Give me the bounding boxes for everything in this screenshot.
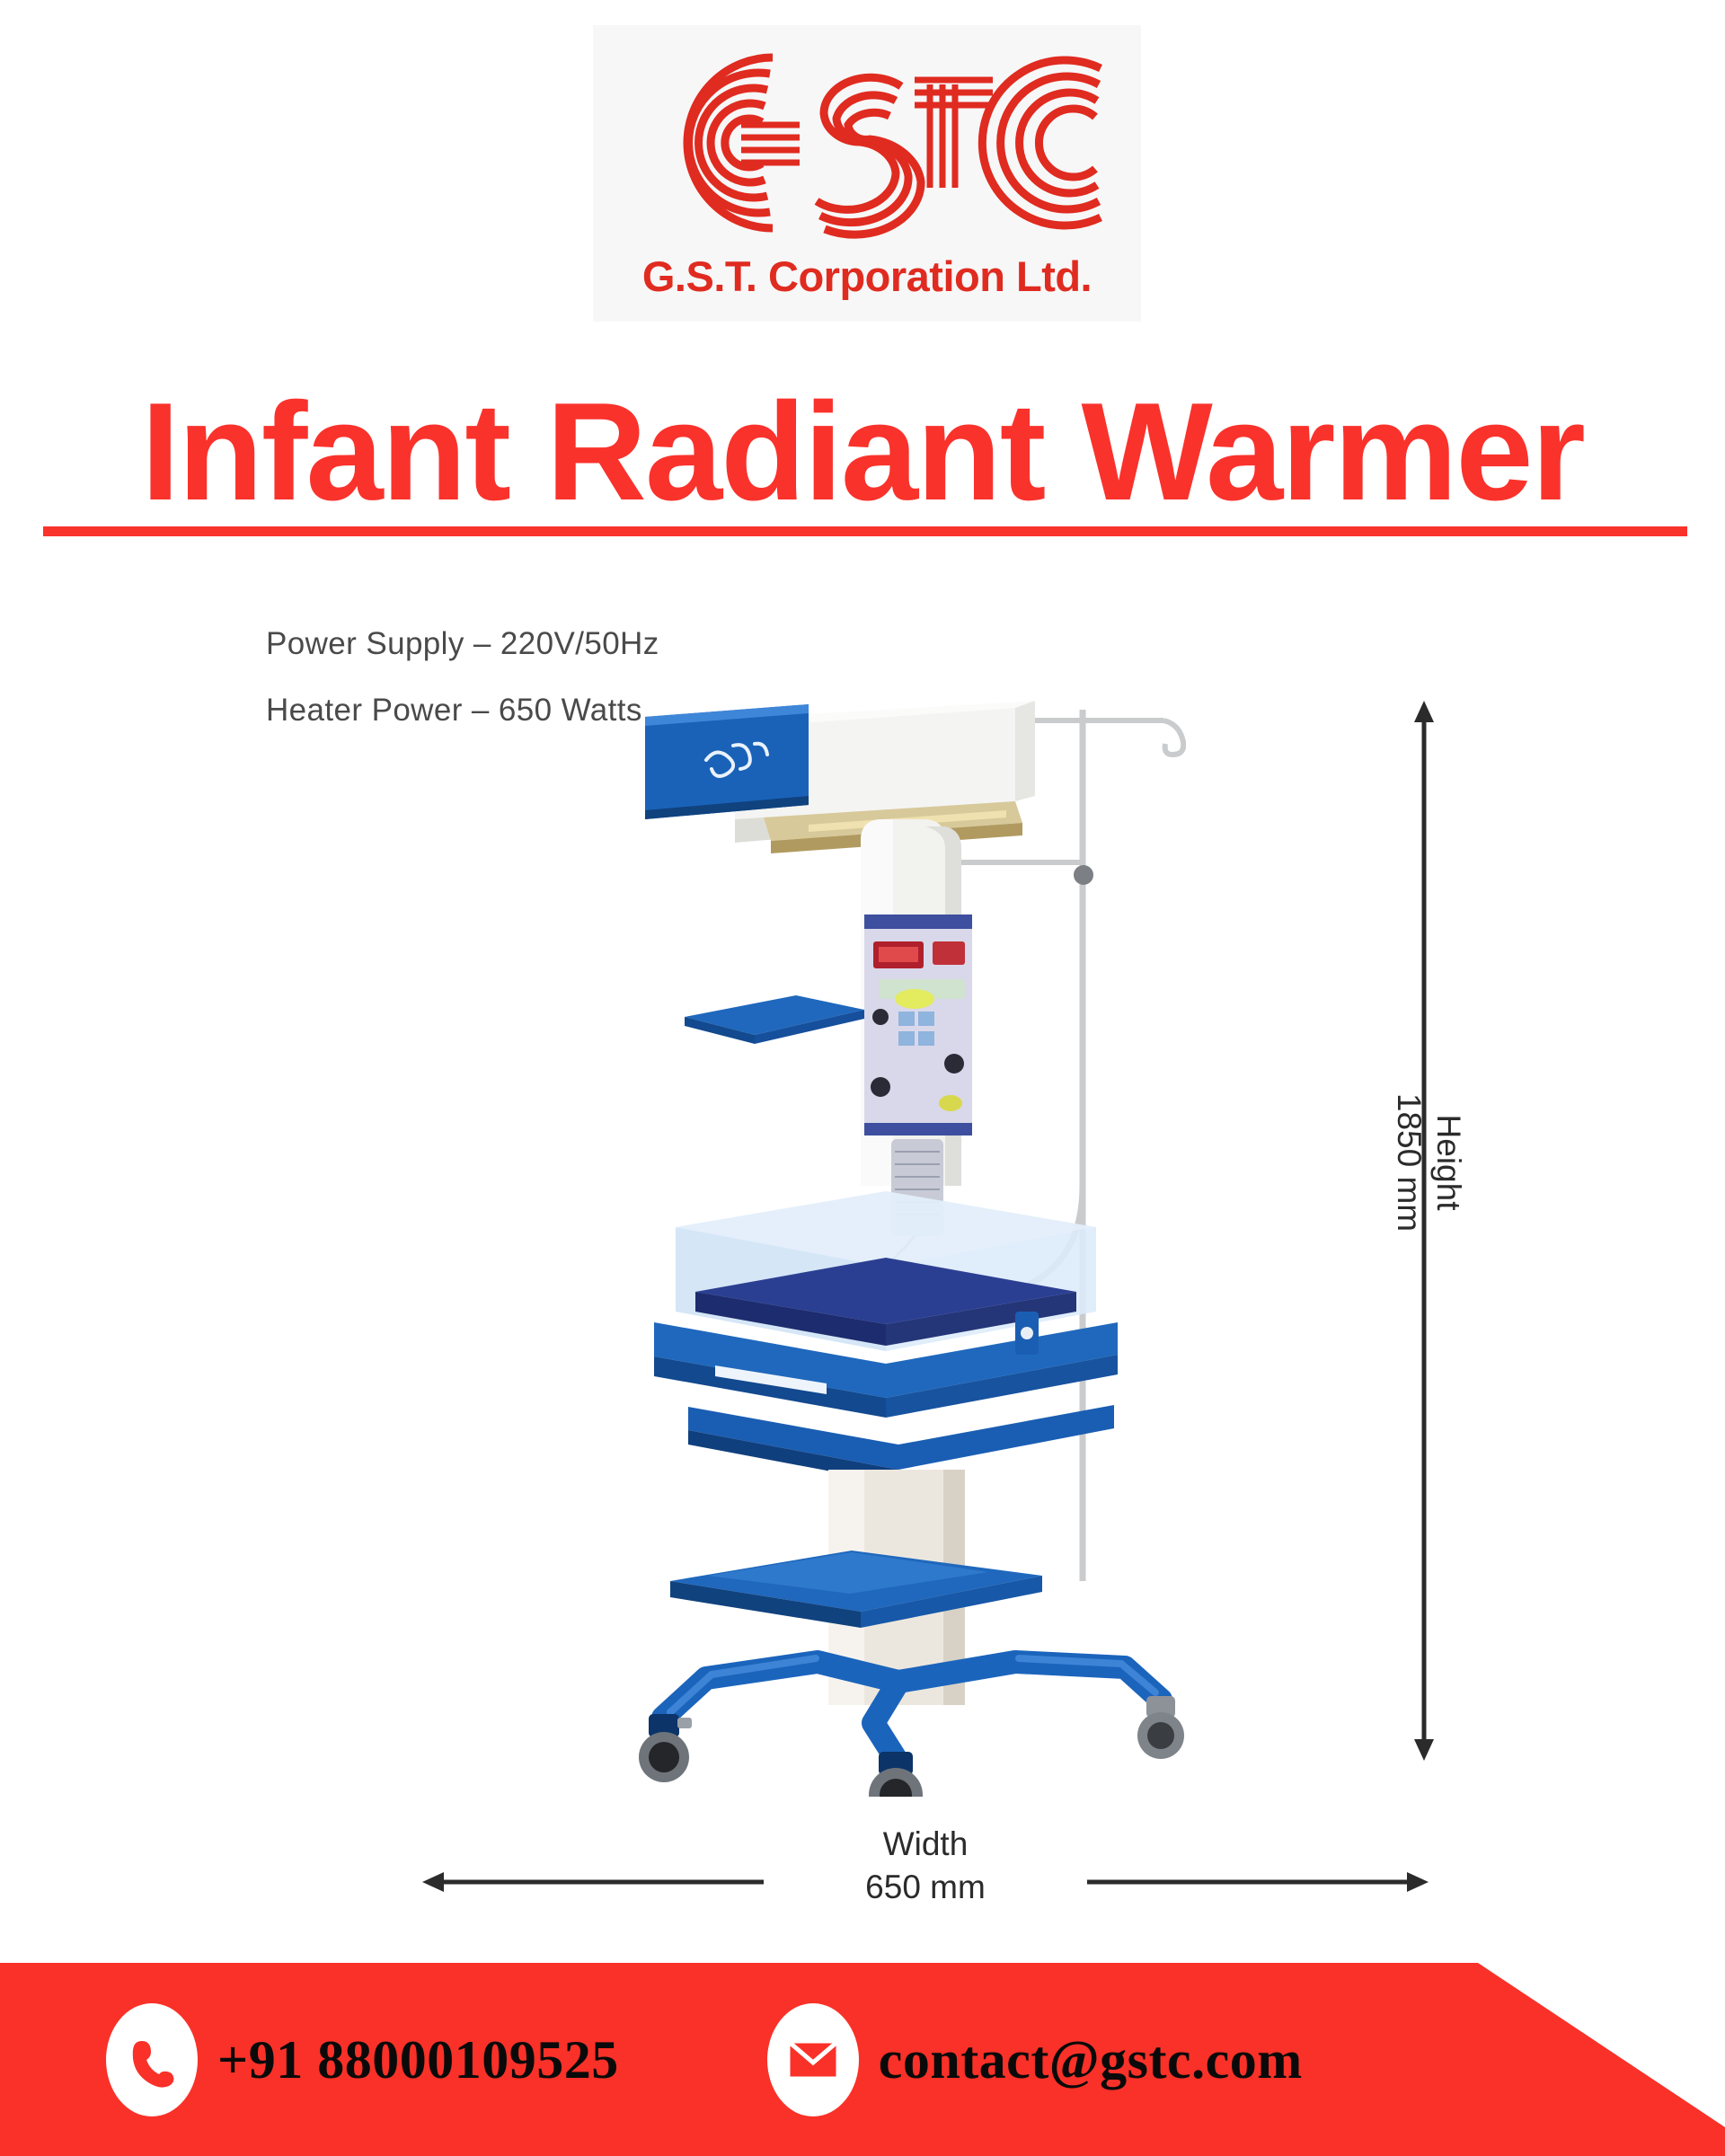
castor-wheel: [869, 1752, 923, 1797]
spec-heater-power: Heater Power – 650 Watts: [266, 677, 659, 744]
product-image: [629, 683, 1186, 1797]
height-dimension-label: Height 1850 mm: [1389, 1014, 1468, 1311]
castor-wheel: [1137, 1696, 1184, 1759]
width-label-text: Width: [883, 1825, 969, 1862]
height-label-text: Height: [1430, 1115, 1467, 1211]
contact-phone[interactable]: +91 88000109525: [106, 2003, 619, 2116]
height-dimension: Height 1850 mm: [1388, 701, 1469, 1761]
envelope-icon: [767, 2003, 859, 2116]
phone-number: +91 88000109525: [217, 2029, 619, 2091]
heater-head: [645, 701, 1035, 853]
width-dimension-label: Width 650 mm: [764, 1819, 1087, 1913]
height-value-text: 1850 mm: [1391, 1093, 1428, 1232]
infant-radiant-warmer-illustration: [629, 683, 1186, 1797]
footer-contact-items: +91 88000109525 contact@gstc.com: [0, 2001, 1725, 2118]
blue-tray-shelf: [685, 995, 864, 1044]
acrylic-bassinet: [654, 1191, 1118, 1484]
lower-blue-shelf: [670, 1551, 1042, 1628]
brand-logo-block: G.S.T. Corporation Ltd.: [593, 25, 1141, 322]
phone-icon: [106, 2003, 198, 2116]
control-panel: [864, 915, 972, 1135]
gstc-concentric-logo-icon: [615, 31, 1119, 255]
width-value-text: 650 mm: [865, 1869, 986, 1905]
spec-power-supply: Power Supply – 220V/50Hz: [266, 611, 659, 677]
contact-email[interactable]: contact@gstc.com: [767, 2003, 1303, 2116]
width-dimension: Width 650 mm: [422, 1833, 1429, 1949]
page-title-underline: [43, 526, 1687, 536]
company-name: G.S.T. Corporation Ltd.: [642, 252, 1092, 301]
spec-list: Power Supply – 220V/50Hz Heater Power – …: [266, 611, 659, 744]
page-title-wrap: Infant Radiant Warmer: [0, 382, 1725, 521]
castor-base: [639, 1658, 1184, 1797]
email-address: contact@gstc.com: [879, 2029, 1303, 2091]
page-title: Infant Radiant Warmer: [0, 382, 1725, 521]
castor-wheel: [639, 1714, 692, 1782]
